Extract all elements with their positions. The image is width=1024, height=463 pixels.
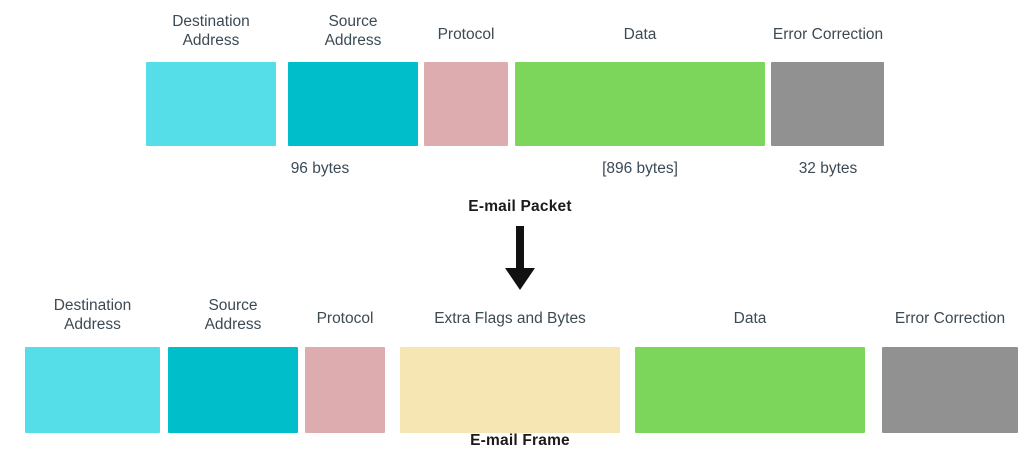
frame-segment-source-address: [168, 347, 298, 433]
packet-bytes-data: [896 bytes]: [578, 159, 702, 178]
frame-field-label-destination-address: Destination Address: [25, 296, 160, 334]
frame-segment-protocol: [305, 347, 385, 433]
packet-bytes-source-address: 96 bytes: [258, 159, 382, 178]
packet-segment-data: [515, 62, 765, 146]
packet-segment-source-address: [288, 62, 418, 146]
frame-field-label-error-correction: Error Correction: [880, 309, 1020, 328]
frame-segment-destination-address: [25, 347, 160, 433]
packet-field-label-source-address: Source Address: [288, 12, 418, 50]
packet-segment-destination-address: [146, 62, 276, 146]
packet-caption: E-mail Packet: [420, 198, 620, 216]
frame-field-label-data: Data: [635, 309, 865, 328]
frame-field-label-source-address: Source Address: [168, 296, 298, 334]
packet-field-label-data: Data: [515, 25, 765, 44]
frame-caption: E-mail Frame: [420, 432, 620, 450]
packet-field-label-error-correction: Error Correction: [758, 25, 898, 44]
packet-field-label-protocol: Protocol: [416, 25, 516, 44]
packet-frame-diagram: Destination Address Source Address Proto…: [0, 0, 1024, 463]
frame-field-label-extra-flags-and-bytes: Extra Flags and Bytes: [400, 309, 620, 328]
frame-segment-error-correction: [882, 347, 1018, 433]
frame-segment-data: [635, 347, 865, 433]
packet-bytes-error-correction: 32 bytes: [766, 159, 890, 178]
packet-field-label-destination-address: Destination Address: [146, 12, 276, 50]
down-arrow-icon: [495, 226, 545, 291]
frame-field-label-protocol: Protocol: [295, 309, 395, 328]
packet-segment-protocol: [424, 62, 508, 146]
frame-segment-extra-flags-and-bytes: [400, 347, 620, 433]
packet-segment-error-correction: [771, 62, 884, 146]
